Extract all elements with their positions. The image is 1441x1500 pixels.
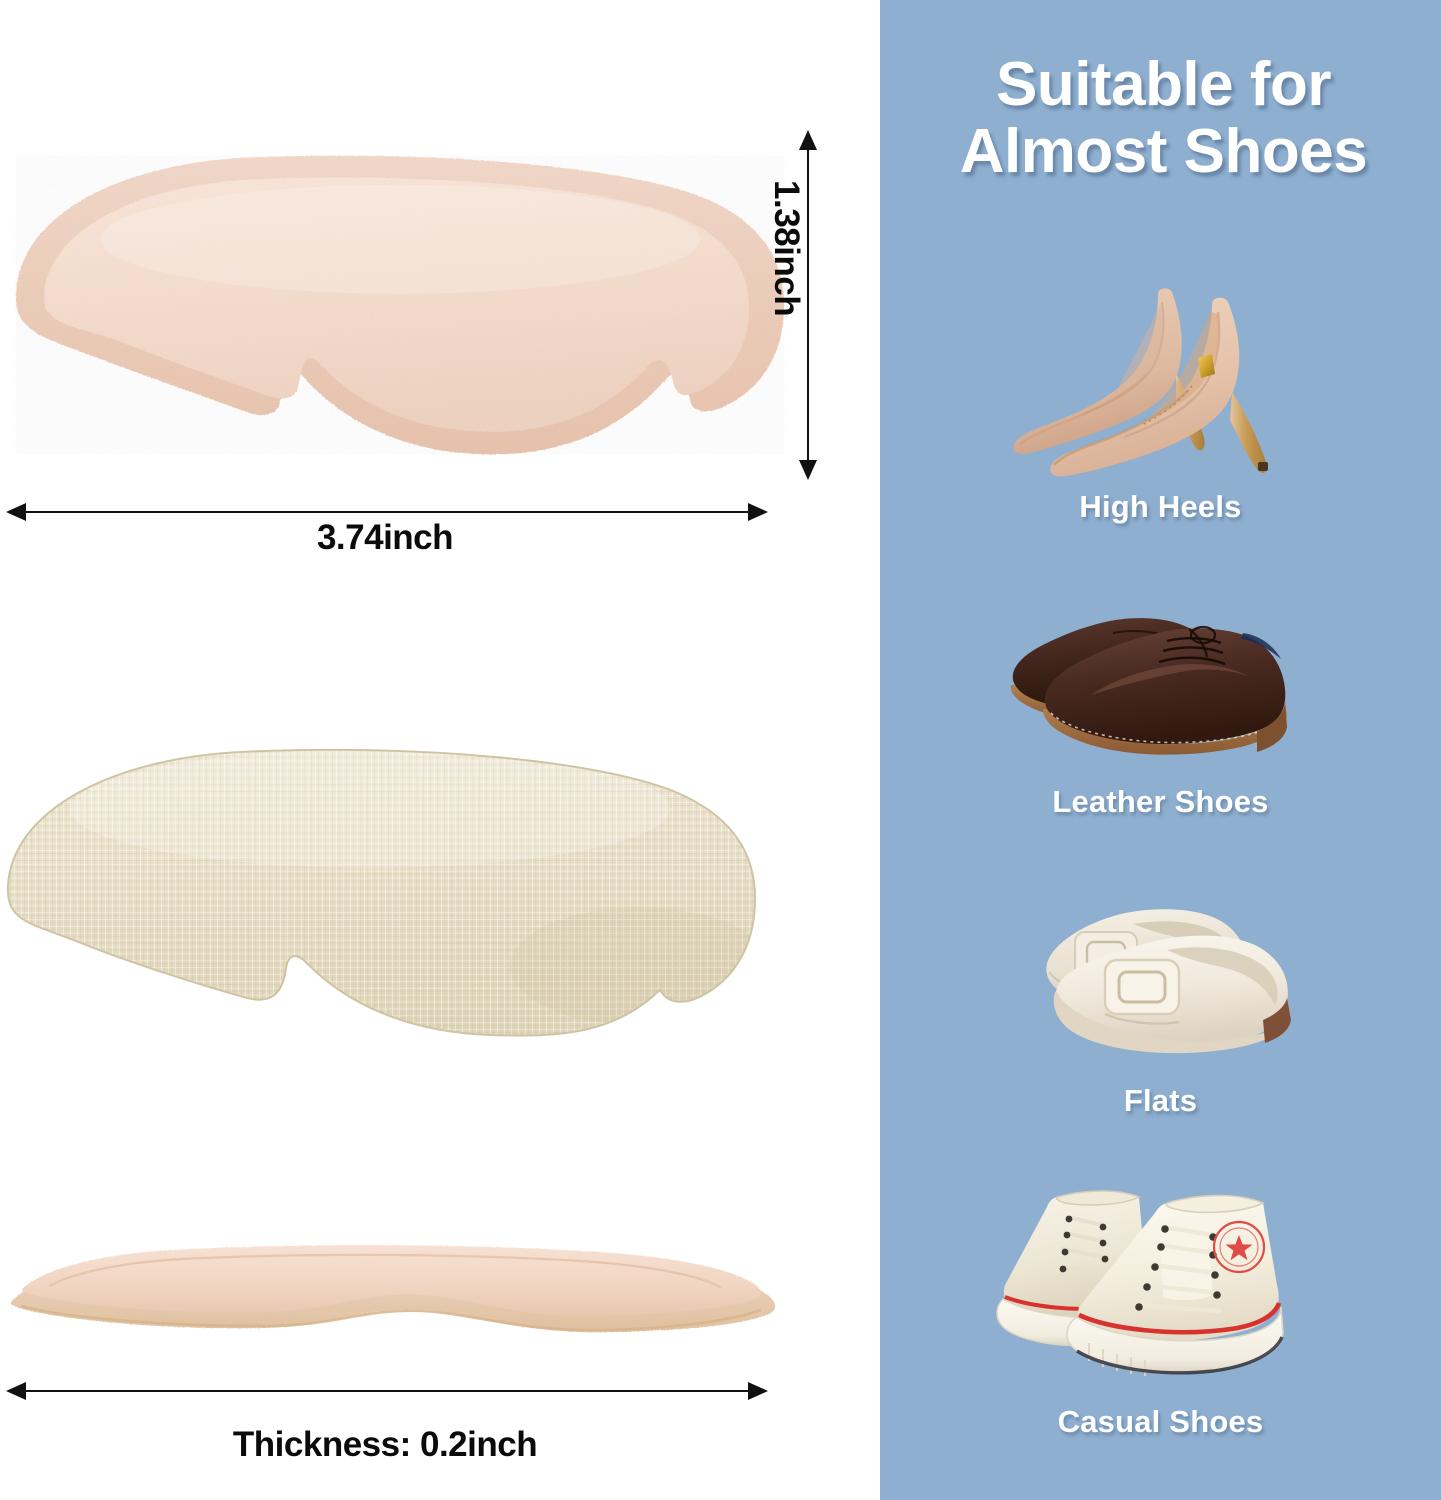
height-arrow-up (799, 130, 817, 150)
high-heel-pumps-icon (880, 262, 1441, 477)
high-top-canvas-sneakers-svg (991, 1175, 1331, 1390)
pad-highlight (100, 185, 700, 294)
heel-pad-side-svg (5, 1240, 785, 1350)
height-arrow-down (799, 460, 817, 480)
thickness-arrow-right (748, 1382, 768, 1400)
thickness-dimension-line (24, 1390, 748, 1392)
shoe-type-label: Casual Shoes (880, 1404, 1441, 1440)
front-heel-tip (1258, 462, 1268, 471)
buckle-flats-icon (880, 880, 1441, 1065)
shoe-type-label: High Heels (880, 489, 1441, 525)
thickness-arrow-left (6, 1382, 26, 1400)
shoe-type-label: Leather Shoes (880, 784, 1441, 820)
product-image-side-view (5, 1240, 785, 1350)
pad-back-body (0, 740, 760, 1040)
shoe-type-casual-shoes: Casual Shoes (880, 1175, 1441, 1440)
leather-derby-shoes-icon (880, 585, 1441, 770)
right-shoe-types-panel: Suitable for Almost Shoes (880, 0, 1441, 1500)
product-image-front-view (0, 150, 785, 460)
width-dimension-label: 3.74inch (0, 518, 770, 558)
shoe-type-leather-shoes: Leather Shoes (880, 585, 1441, 820)
left-product-panel: 3.74inch 1.38inch Thickness: 0.2inch (0, 0, 880, 1500)
product-image-back-view (0, 740, 760, 1040)
height-dimension-line (807, 148, 809, 460)
headline-line-2: Almost Shoes (900, 119, 1427, 186)
leather-derby-shoes-svg (991, 585, 1331, 770)
high-heel-pumps-svg (996, 262, 1326, 477)
width-dimension-line (24, 511, 748, 513)
thickness-dimension-label: Thickness: 0.2inch (0, 1425, 770, 1465)
heel-pad-front-svg (0, 150, 785, 460)
shoe-type-label: Flats (880, 1083, 1441, 1119)
shoe-type-flats: Flats (880, 880, 1441, 1119)
front-shoe-gold-ornament (1198, 354, 1215, 378)
headline-line-1: Suitable for (900, 52, 1427, 119)
heel-pad-back-svg (0, 740, 760, 1040)
high-top-canvas-sneakers-icon (880, 1175, 1441, 1390)
page-title: Suitable for Almost Shoes (880, 52, 1441, 186)
product-infographic: 3.74inch 1.38inch Thickness: 0.2inch Sui… (0, 0, 1441, 1500)
shoe-type-high-heels: High Heels (880, 262, 1441, 525)
buckle-flats-svg (1001, 880, 1321, 1060)
front-flat-buckle (1105, 960, 1179, 1024)
front-shoe-heel (1230, 392, 1267, 473)
height-dimension-label: 1.38inch (766, 180, 806, 316)
